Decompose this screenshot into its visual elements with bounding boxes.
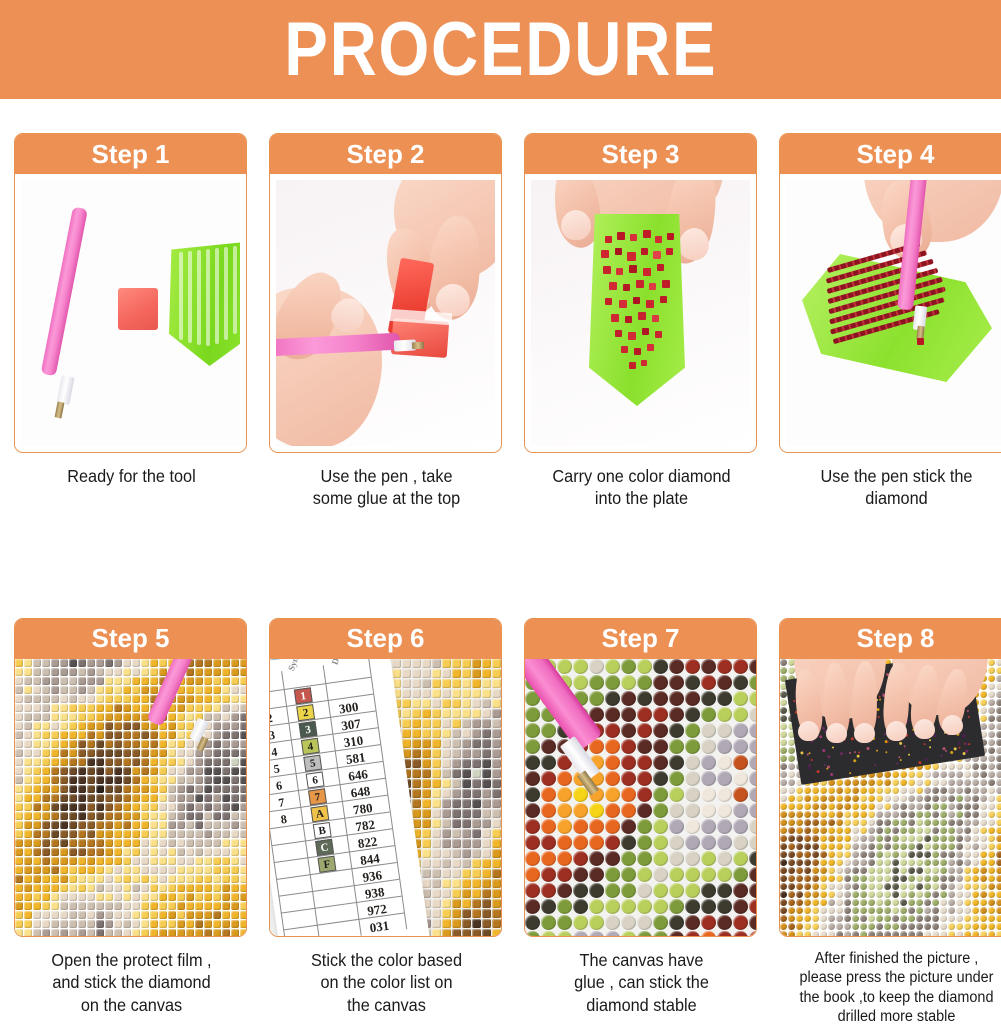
step-7-caption: The canvas haveglue , can stick thediamo… — [532, 949, 751, 1016]
step-3-caption: Carry one color diamondinto the plate — [532, 465, 751, 510]
step-4-photo — [780, 174, 1001, 452]
step-1-photo — [15, 174, 246, 452]
step-card-2: Step 2 — [269, 133, 504, 510]
step-1-title: Step 1 — [15, 134, 246, 174]
step-2-photo — [270, 174, 501, 452]
step-card-3: Step 3 — [524, 133, 759, 510]
sunflower-mosaic — [15, 659, 246, 936]
page-title: PROCEDURE — [284, 12, 717, 88]
step-card-1: Step 1 — [14, 133, 249, 510]
green-tray — [589, 214, 685, 406]
step-card-8: Step 8 — [779, 618, 1001, 1026]
step-6-caption: Stick the color basedon the color list o… — [277, 949, 496, 1016]
step-2-title: Step 2 — [270, 134, 501, 174]
step-5-caption: Open the protect film ,and stick the dia… — [22, 949, 241, 1016]
procedure-infographic: PROCEDURE Step 1 — [0, 0, 1001, 1001]
step-card-7: Step 7 The canvas haveglue , can stick t… — [524, 618, 759, 1026]
step-1-caption: Ready for the tool — [22, 465, 241, 487]
step-7-photo — [525, 659, 756, 936]
step-2-caption: Use the pen , takesome glue at the top — [277, 465, 496, 510]
step-card-6: Step 6 SerialSymbolDMC112230033307443105… — [269, 618, 504, 1026]
step-8-title: Step 8 — [780, 619, 1001, 659]
steps-row-2: Step 5 Open the protect film ,and stick … — [14, 618, 987, 1026]
step-6-photo: SerialSymbolDMC1122300333074431055581666… — [270, 659, 501, 936]
step-8-photo — [780, 659, 1001, 936]
step-7-title: Step 7 — [525, 619, 756, 659]
step-4-caption: Use the pen stick thediamond — [787, 465, 1001, 510]
step-card-4: Step 4 — [779, 133, 1001, 510]
step-3-photo — [525, 174, 756, 452]
step-4-title: Step 4 — [780, 134, 1001, 174]
steps-row-1: Step 1 — [14, 133, 987, 510]
page-header-banner: PROCEDURE — [0, 0, 1001, 99]
step-6-title: Step 6 — [270, 619, 501, 659]
step-3-title: Step 3 — [525, 134, 756, 174]
glue-square — [118, 288, 158, 330]
step-5-photo — [15, 659, 246, 936]
steps-grid: Step 1 — [14, 133, 987, 1026]
step-5-title: Step 5 — [15, 619, 246, 659]
step-8-caption: After finished the picture ,please press… — [787, 949, 1001, 1026]
step-card-5: Step 5 Open the protect film ,and stick … — [14, 618, 249, 1026]
